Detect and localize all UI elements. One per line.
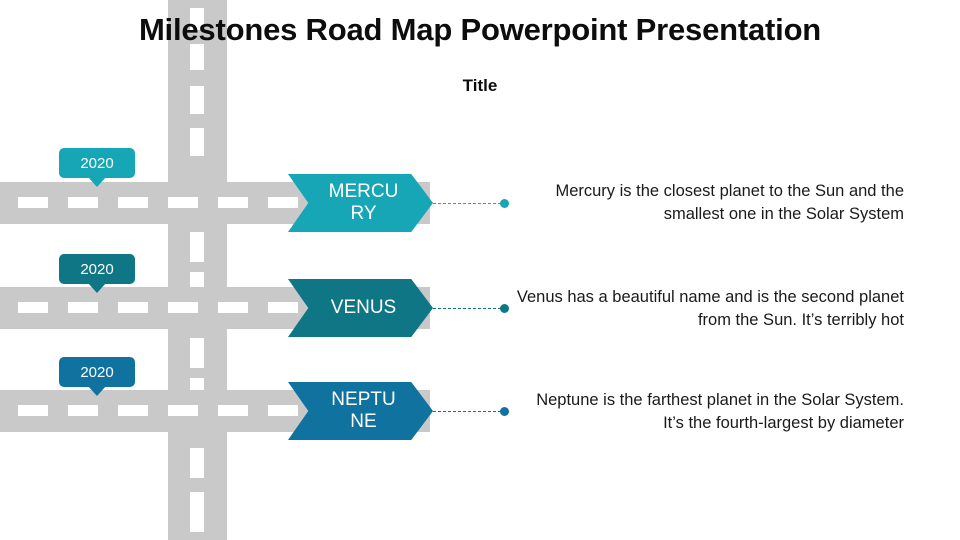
road-dash (268, 302, 298, 313)
page-title: Milestones Road Map Powerpoint Presentat… (0, 12, 960, 48)
road-dash (18, 302, 48, 313)
page-subtitle: Title (0, 76, 960, 96)
milestone-year-label: 2020 (80, 365, 113, 380)
milestone-year-badge-3[interactable]: 2020 (59, 357, 135, 387)
road-dash (118, 405, 148, 416)
connector-line (433, 308, 501, 309)
connector-line (433, 203, 501, 204)
road-dash (68, 405, 98, 416)
road-dash (168, 302, 198, 313)
milestone-connector-3 (433, 406, 509, 416)
vertical-road-dash (190, 448, 204, 478)
connector-dot-icon (500, 199, 509, 208)
vertical-road-dash (190, 338, 204, 368)
road-dash (268, 405, 298, 416)
milestone-connector-1 (433, 198, 509, 208)
milestone-description-1: Mercury is the closest planet to the Sun… (514, 180, 904, 226)
vertical-road-dash (190, 128, 204, 156)
milestone-name: VENUS (328, 297, 400, 319)
milestone-year-label: 2020 (80, 262, 113, 277)
road-dash (168, 197, 198, 208)
connector-line (433, 411, 501, 412)
connector-dot-icon (500, 304, 509, 313)
milestone-chevron-1[interactable]: MERCURY (288, 174, 433, 232)
vertical-road-dash (190, 232, 204, 262)
milestone-year-badge-2[interactable]: 2020 (59, 254, 135, 284)
road-dash (268, 197, 298, 208)
road-dash (168, 405, 198, 416)
milestone-description-3: Neptune is the farthest planet in the So… (514, 389, 904, 435)
milestone-chevron-2[interactable]: VENUS (288, 279, 433, 337)
road-dash (218, 302, 248, 313)
road-dash (18, 197, 48, 208)
milestone-connector-2 (433, 303, 509, 313)
badge-pointer-icon (88, 386, 106, 396)
road-dash (18, 405, 48, 416)
connector-dot-icon (500, 407, 509, 416)
milestone-description-2: Venus has a beautiful name and is the se… (514, 286, 904, 332)
milestone-year-badge-1[interactable]: 2020 (59, 148, 135, 178)
milestone-chevron-3[interactable]: NEPTUNE (288, 382, 433, 440)
road-dash (118, 197, 148, 208)
badge-pointer-icon (88, 177, 106, 187)
milestone-name: NEPTUNE (328, 389, 400, 433)
badge-pointer-icon (88, 283, 106, 293)
vertical-road-dash (190, 492, 204, 532)
milestone-year-label: 2020 (80, 156, 113, 171)
milestone-name: MERCURY (328, 181, 400, 225)
road-dash (118, 302, 148, 313)
road-dash (68, 302, 98, 313)
slide-canvas: Milestones Road Map Powerpoint Presentat… (0, 0, 960, 540)
road-dash (218, 405, 248, 416)
road-dash (218, 197, 248, 208)
road-dash (68, 197, 98, 208)
